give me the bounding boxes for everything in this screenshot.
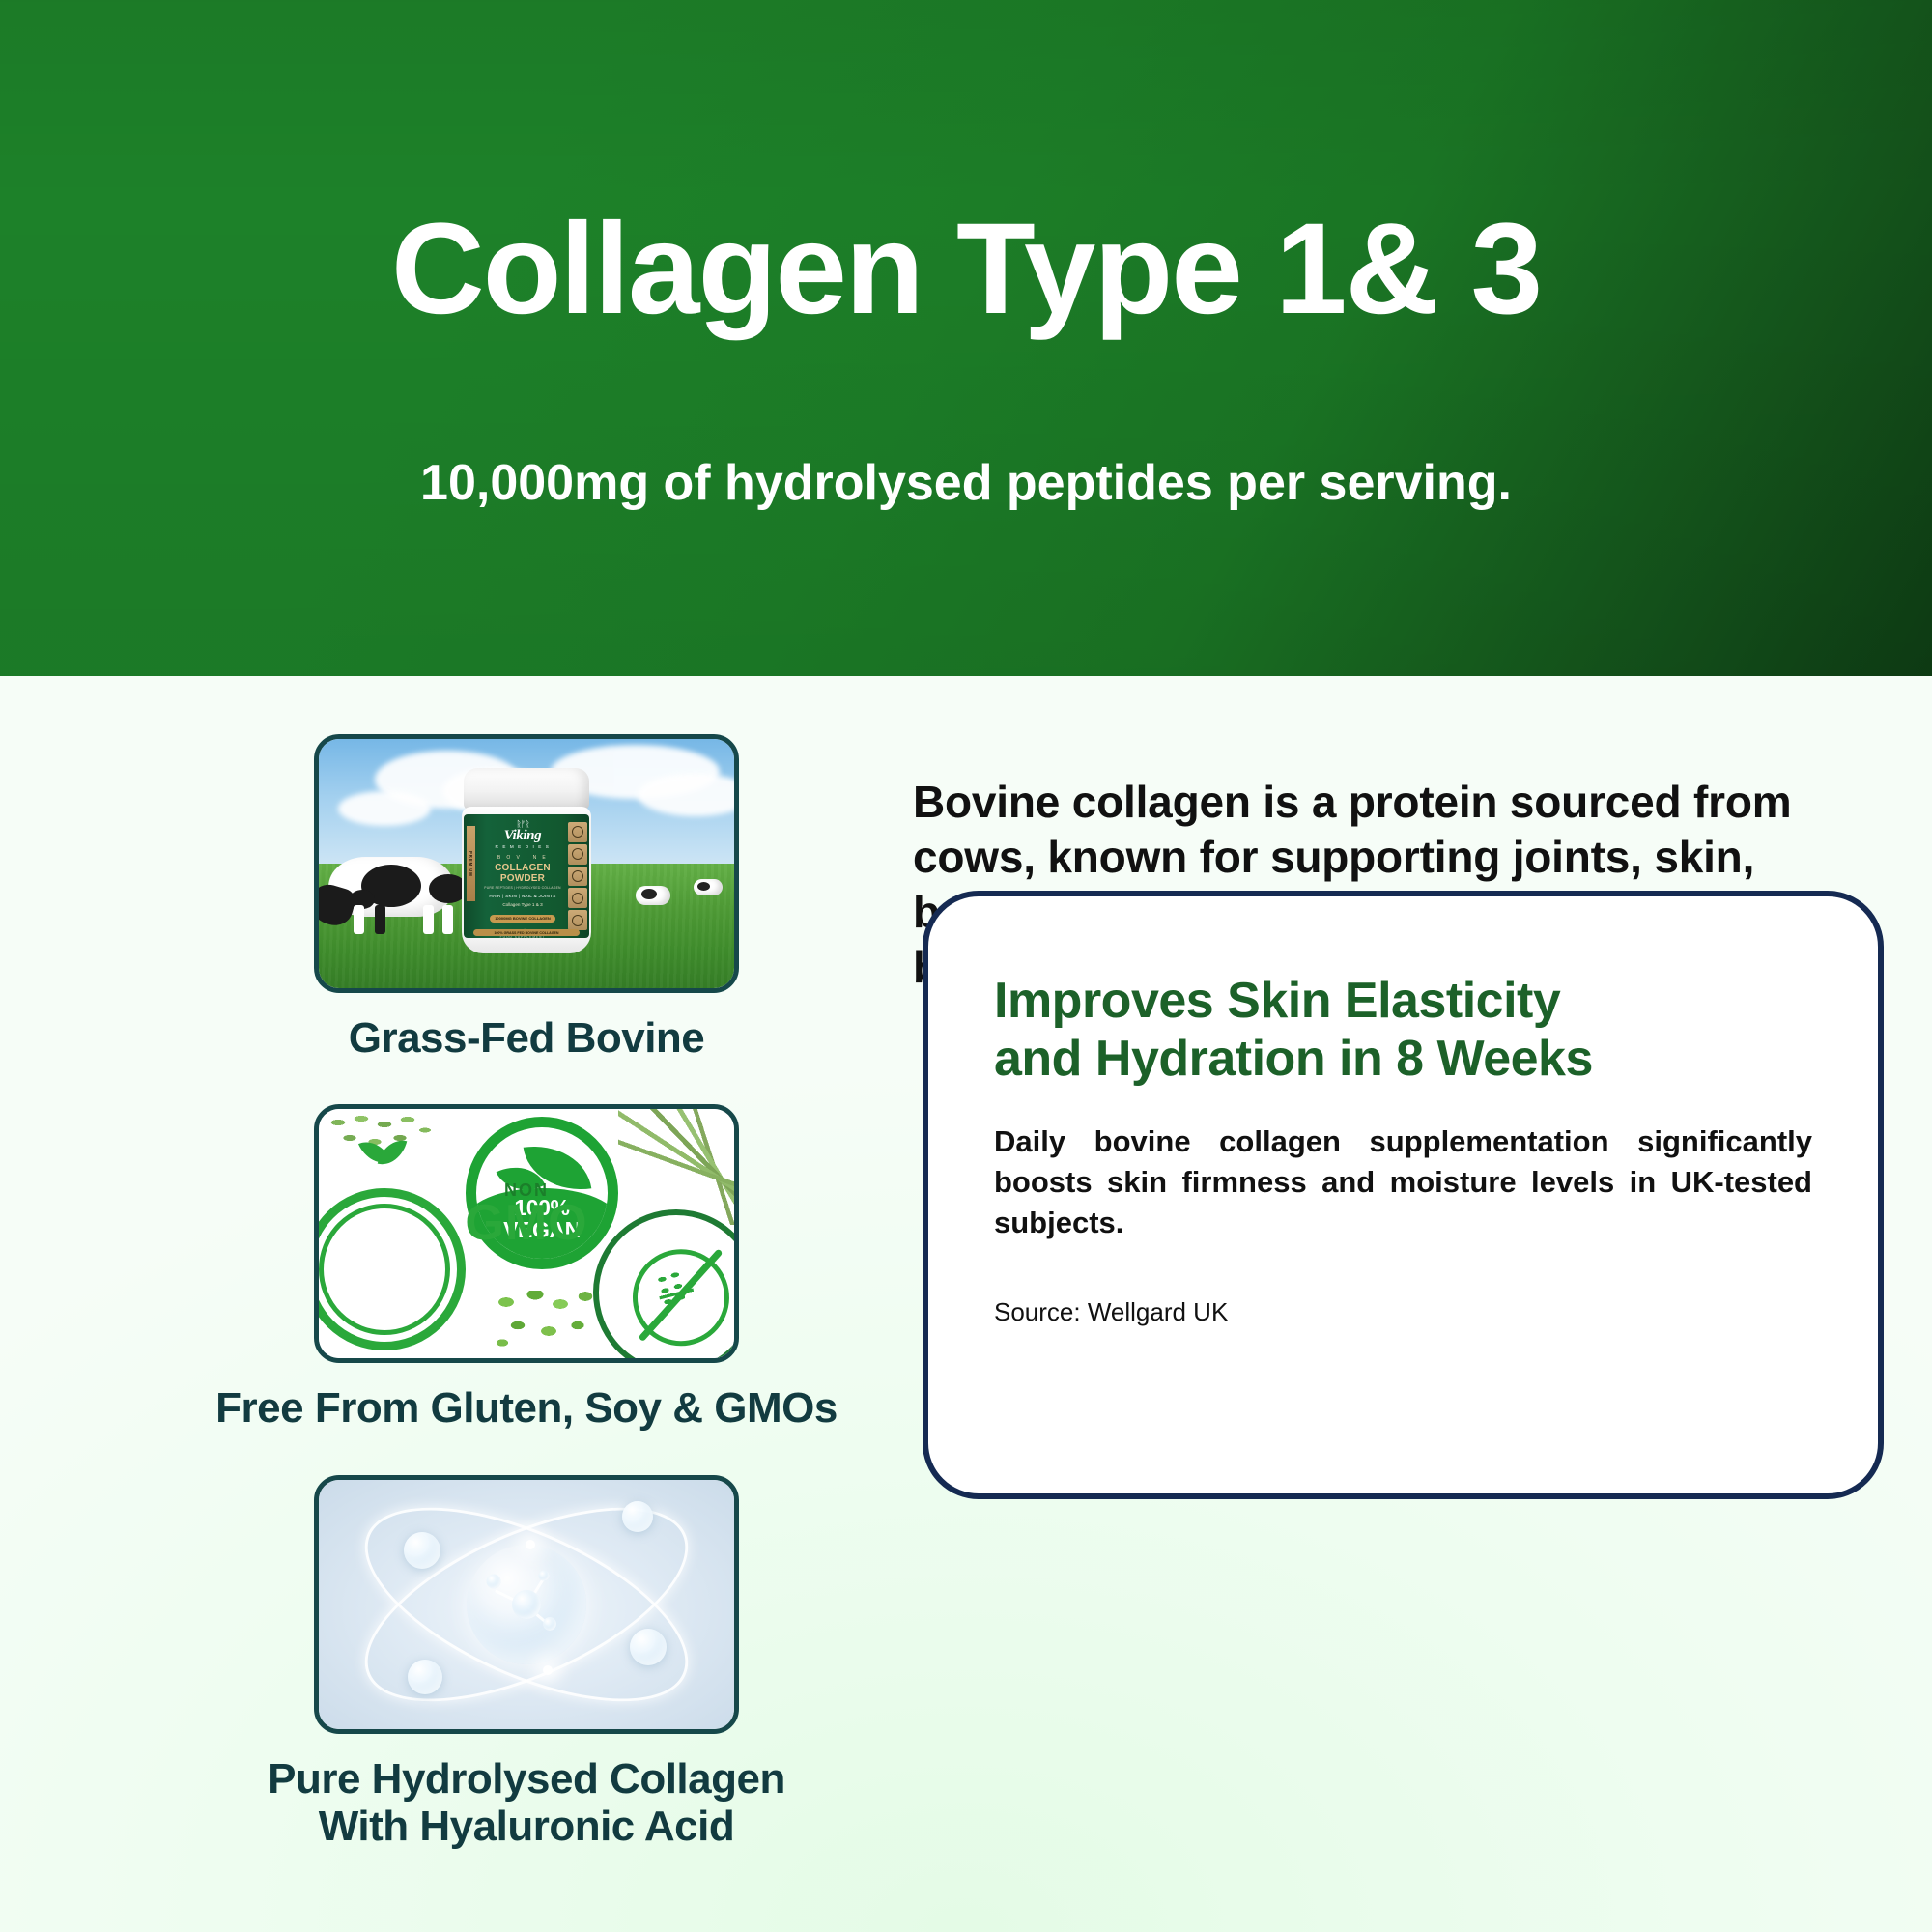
jar-product-name: COLLAGEN POWDER <box>479 863 566 884</box>
feature-image-grass-fed-bovine: PREMIUM ᚱᚠᚱ Viking <box>314 734 739 993</box>
jar-benefits: HAIR | SKIN | NAIL & JOINTS <box>479 894 566 898</box>
page-title: Collagen Type 1& 3 <box>0 205 1932 334</box>
product-jar: PREMIUM ᚱᚠᚱ Viking <box>462 768 591 957</box>
cow-leg <box>354 905 364 934</box>
jar-type-line: Collagen Type 1 & 3 <box>479 902 566 907</box>
brand-name: Viking <box>479 829 566 843</box>
water-droplet-icon <box>630 1629 667 1665</box>
callout-source: Source: Wellgard UK <box>994 1297 1812 1327</box>
feature-hydrolysed-collagen: Pure Hydrolysed Collagen With Hyaluronic… <box>145 1475 908 1851</box>
jar-certification-strip <box>568 822 587 930</box>
jar-label: PREMIUM ᚱᚠᚱ Viking <box>464 814 589 938</box>
jar-side-band: PREMIUM <box>467 826 475 901</box>
cow-leg <box>375 905 385 934</box>
water-droplet-icon <box>622 1501 653 1532</box>
feature-image-certifications: 100% VEGAN NON GMO <box>314 1104 739 1363</box>
callout-title-line1: Improves Skin Elasticity <box>994 972 1812 1030</box>
cert-seal-icon <box>568 867 587 887</box>
water-droplet-icon <box>404 1532 440 1569</box>
jar-source-line: B O V I N E <box>479 855 566 861</box>
feature-grass-fed-bovine: PREMIUM ᚱᚠᚱ Viking <box>145 734 908 1062</box>
cert-seal-icon <box>568 888 587 908</box>
hero-banner: Collagen Type 1& 3 10,000mg of hydrolyse… <box>0 0 1932 676</box>
sparkle-icon <box>526 1540 535 1549</box>
content-area: PREMIUM ᚱᚠᚱ Viking <box>0 676 1932 1932</box>
cloud-icon <box>338 791 431 826</box>
feature-label-line1: Pure Hydrolysed Collagen <box>145 1755 908 1803</box>
water-droplet-icon <box>408 1660 442 1694</box>
feature-free-from: 100% VEGAN NON GMO <box>145 1104 908 1432</box>
cert-seal-icon <box>568 910 587 930</box>
hero-subtitle: 10,000mg of hydrolysed peptides per serv… <box>0 454 1932 512</box>
feature-label-free-from: Free From Gluten, Soy & GMOs <box>145 1384 908 1432</box>
callout-body: Daily bovine collagen supplementation si… <box>994 1122 1812 1243</box>
feature-label-hydrolysed-collagen: Pure Hydrolysed Collagen With Hyaluronic… <box>145 1755 908 1851</box>
jar-dose-pill: 10000MG BOVINE COLLAGEN <box>490 915 555 923</box>
feature-label-line2: With Hyaluronic Acid <box>145 1803 908 1850</box>
molecule-atom <box>512 1590 541 1619</box>
cow-leg <box>442 905 453 934</box>
study-callout-card: Improves Skin Elasticity and Hydration i… <box>923 891 1884 1499</box>
molecule-illustration <box>319 1480 734 1729</box>
sparkle-icon <box>543 1665 553 1675</box>
callout-title: Improves Skin Elasticity and Hydration i… <box>994 972 1812 1089</box>
cow-pasture-illustration: PREMIUM ᚱᚠᚱ Viking <box>319 739 734 988</box>
cow-icon-distant <box>694 879 723 895</box>
cloud-icon <box>638 774 739 816</box>
cert-seal-icon <box>568 844 587 865</box>
jar-tagline: PURE PEPTIDES | HYDROLYSED COLLAGEN <box>479 886 566 890</box>
molecule-atom <box>538 1570 549 1580</box>
molecule-atom <box>543 1617 556 1631</box>
molecule-atom <box>487 1574 501 1588</box>
brand-subtitle: R E M E D I E S <box>479 844 566 849</box>
cow-icon-distant <box>636 886 670 905</box>
jar-footer-band: 100% GRASS FED BOVINE COLLAGEN <box>473 929 580 936</box>
feature-image-molecule <box>314 1475 739 1734</box>
jar-lid <box>464 768 589 810</box>
cert-seal-icon <box>568 822 587 842</box>
feature-label-grass-fed-bovine: Grass-Fed Bovine <box>145 1014 908 1062</box>
cow-leg <box>423 905 434 934</box>
infographic-page: Collagen Type 1& 3 10,000mg of hydrolyse… <box>0 0 1932 1932</box>
callout-title-line2: and Hydration in 8 Weeks <box>994 1030 1812 1088</box>
jar-label-text: ᚱᚠᚱ Viking R E M E D I E S B O V I N E C… <box>479 820 566 938</box>
leaf-icon <box>363 1138 408 1177</box>
certification-badges-illustration: 100% VEGAN NON GMO <box>319 1109 734 1358</box>
feature-list: PREMIUM ᚱᚠᚱ Viking <box>145 734 908 1892</box>
